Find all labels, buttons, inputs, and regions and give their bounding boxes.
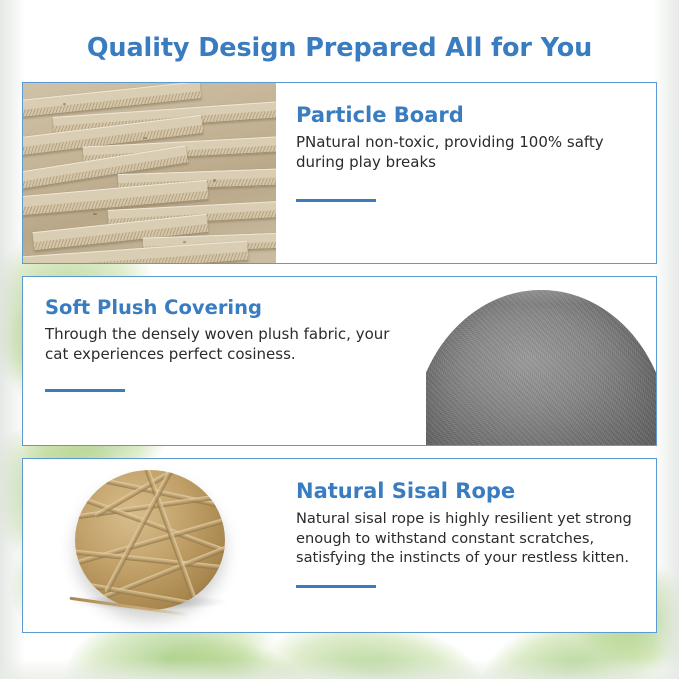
grey-plush-fabric-photo	[426, 277, 656, 445]
accent-rule	[45, 389, 125, 392]
bottom-vignette	[0, 659, 679, 679]
particle-board-photo	[23, 83, 276, 263]
feature-card-particle-board: Particle Board PNatural non-toxic, provi…	[22, 82, 657, 264]
card-title: Soft Plush Covering	[45, 297, 406, 319]
card-title: Natural Sisal Rope	[296, 479, 636, 503]
accent-rule	[296, 199, 376, 202]
content-area: Quality Design Prepared All for You	[0, 0, 679, 633]
feature-card-natural-sisal-rope: Natural Sisal Rope Natural sisal rope is…	[22, 458, 657, 633]
page-title: Quality Design Prepared All for You	[0, 0, 679, 63]
card-body: Particle Board PNatural non-toxic, provi…	[276, 83, 656, 263]
card-title: Particle Board	[296, 103, 636, 127]
sisal-rope-ball-photo	[23, 459, 276, 632]
feature-card-soft-plush-covering: Soft Plush Covering Through the densely …	[22, 276, 657, 446]
feature-card-list: Particle Board PNatural non-toxic, provi…	[0, 82, 679, 633]
card-body: Soft Plush Covering Through the densely …	[23, 277, 426, 445]
card-body: Natural Sisal Rope Natural sisal rope is…	[276, 459, 656, 632]
accent-rule	[296, 585, 376, 588]
card-description: PNatural non-toxic, providing 100% safty…	[296, 133, 636, 173]
card-description: Natural sisal rope is highly resilient y…	[296, 509, 636, 567]
infographic-page: Quality Design Prepared All for You	[0, 0, 679, 679]
card-description: Through the densely woven plush fabric, …	[45, 325, 406, 365]
